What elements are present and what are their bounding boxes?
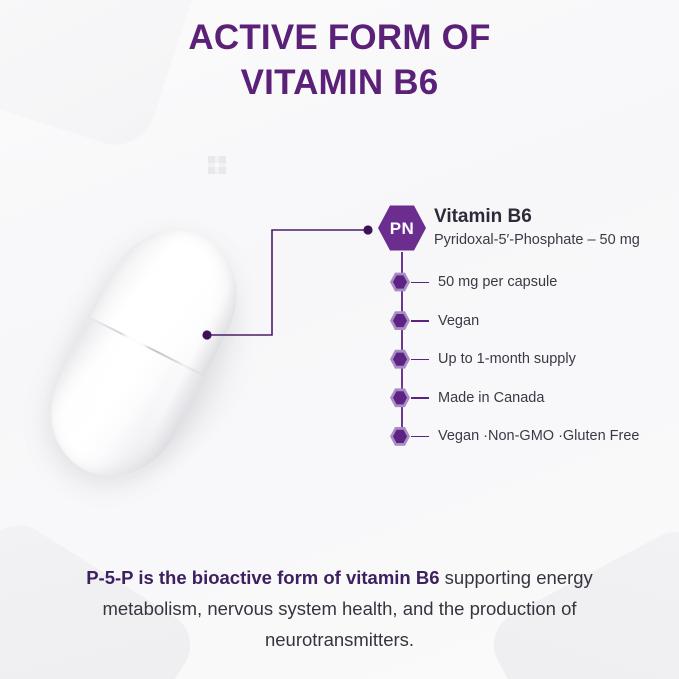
page-title: ACTIVE FORM OF VITAMIN B6 xyxy=(0,16,679,106)
bullet-connector-dash xyxy=(411,359,429,361)
page-title-line-2: VITAMIN B6 xyxy=(0,61,679,106)
capsule-image xyxy=(52,208,262,498)
list-item: Vegan xyxy=(390,311,670,350)
pn-badge: PN xyxy=(378,204,426,252)
background-watermark-mark xyxy=(208,156,226,174)
bullet-connector-dash xyxy=(411,282,429,284)
pn-badge-label: PN xyxy=(390,220,414,237)
list-item: Made in Canada xyxy=(390,388,670,427)
list-item: Vegan ·Non-GMO ·Gluten Free xyxy=(390,426,670,465)
bullet-connector-dash xyxy=(411,320,429,322)
footer-lead-text: P-5-P is the bioactive form of vitamin B… xyxy=(86,567,439,588)
feature-list: 50 mg per capsule Vegan Up to 1-month su… xyxy=(390,272,670,465)
list-item-label: 50 mg per capsule xyxy=(438,273,557,291)
callout-subhead: Pyridoxal-5′-Phosphate – 50 mg xyxy=(434,231,640,249)
list-item: 50 mg per capsule xyxy=(390,272,670,311)
leader-badge-dot xyxy=(363,225,372,234)
footer-description: P-5-P is the bioactive form of vitamin B… xyxy=(42,562,637,655)
list-item-label: Up to 1-month supply xyxy=(438,350,576,368)
list-item-label: Vegan ·Non-GMO ·Gluten Free xyxy=(438,427,639,445)
bullet-connector-dash xyxy=(411,436,429,438)
product-infographic: ACTIVE FORM OF VITAMIN B6 PN Vitamin B6 … xyxy=(0,0,679,679)
list-item: Up to 1-month supply xyxy=(390,349,670,388)
bullet-connector-dash xyxy=(411,397,429,399)
list-item-label: Vegan xyxy=(438,312,479,330)
page-title-line-1: ACTIVE FORM OF xyxy=(0,16,679,61)
callout-headline: Vitamin B6 xyxy=(434,206,532,229)
hexagon-icon: PN xyxy=(378,204,426,252)
list-item-label: Made in Canada xyxy=(438,389,544,407)
